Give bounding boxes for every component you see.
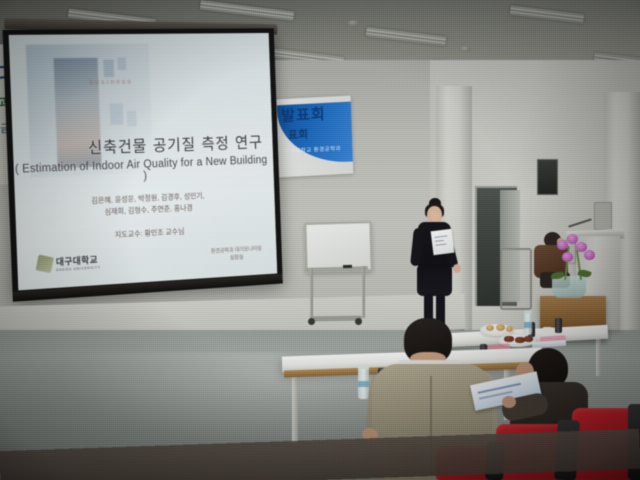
whiteboard-leg xyxy=(310,268,313,318)
water-bottle xyxy=(524,310,532,335)
whiteboard-caster xyxy=(308,318,315,325)
pastry xyxy=(496,324,505,331)
wall-panel-box xyxy=(594,202,612,230)
whiteboard-marker xyxy=(343,265,352,268)
orchid-flower xyxy=(567,234,578,244)
table-leg xyxy=(596,334,601,376)
photograph-scene: 대 과 . (금) 발표회 표회 대구대학교 환경공학과 business 신축… xyxy=(0,0,640,480)
orchid-flower xyxy=(584,250,595,260)
bottle-label xyxy=(524,322,532,328)
presenter-skirt xyxy=(417,266,452,296)
whiteboard-caster xyxy=(355,318,362,325)
pastry xyxy=(506,326,513,332)
logo-diamond-icon xyxy=(35,255,53,274)
slide-surface: business 신축건물 공기질 측정 연구 ( Estimation of … xyxy=(9,33,278,290)
screen-frame: business 신축건물 공기질 측정 연구 ( Estimation of … xyxy=(3,28,283,300)
presenter-face xyxy=(430,211,440,221)
slide-authors: 김은혜, 윤성운, 박정원, 김경후, 성민기, 심재희, 김형수, 주연준, … xyxy=(15,187,275,222)
table-leg xyxy=(292,366,298,444)
banner-right-line1: 발표회 xyxy=(281,103,326,126)
slide-lab-credit: 환경공학과 대기모니터링 실험실 xyxy=(211,246,262,264)
banner-right-line2: 표회 xyxy=(288,126,309,143)
whiteboard-leg xyxy=(362,266,365,318)
presenter-handout xyxy=(431,229,455,255)
wall-speaker xyxy=(537,159,558,195)
orchid-flower xyxy=(562,252,573,262)
university-logo: 대구대학교 DAEGU UNIVERSITY xyxy=(36,252,101,273)
projection-screen: business 신축건물 공기질 측정 연구 ( Estimation of … xyxy=(3,28,284,317)
ceiling-sprinkler-icon xyxy=(460,46,471,52)
skewer-food xyxy=(504,336,514,342)
paper-cup xyxy=(543,327,552,336)
reader-hand xyxy=(502,396,516,408)
orchid-flower xyxy=(557,240,568,250)
stacking-chair xyxy=(500,248,532,310)
slide-collage-watermark: business xyxy=(89,79,133,87)
ceiling-sprinkler-icon xyxy=(348,20,359,26)
presenter-hand xyxy=(452,263,461,273)
slide-advisor: 지도교수: 황민조 교수님 xyxy=(16,221,276,246)
beverage-can xyxy=(555,318,562,333)
